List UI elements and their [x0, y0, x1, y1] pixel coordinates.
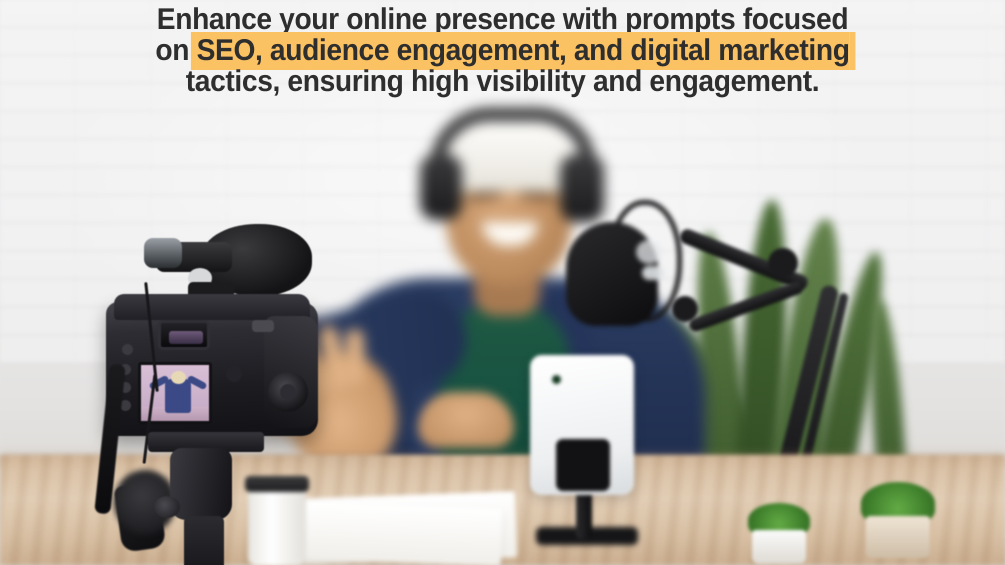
camera-viewfinder: [158, 320, 210, 350]
headline-line-1: Enhance your online presence with prompt…: [30, 4, 975, 35]
camera-button: [122, 344, 133, 355]
pot-body: [866, 516, 930, 558]
viewfinder-glass: [169, 331, 203, 344]
slide-canvas: Enhance your online presence with prompt…: [0, 0, 1005, 565]
lcd-preview-head: [171, 371, 186, 384]
boom-arm-joint: [768, 248, 798, 278]
tripod-column: [184, 516, 224, 565]
succulent-pot: [866, 486, 930, 558]
finger: [345, 329, 366, 386]
mic-highlight: [642, 266, 664, 280]
pot-body: [752, 530, 806, 564]
tablet-camera-icon: [552, 375, 561, 384]
mic-highlight: [636, 240, 662, 264]
camera-mode-dial: [252, 320, 274, 332]
mic-capsule: [144, 238, 182, 268]
camera-rig: [96, 224, 332, 565]
camera-button: [226, 366, 242, 382]
headphone-cup-left: [420, 154, 462, 220]
lcd-preview-subject: [165, 379, 191, 413]
succulent-pot: [752, 506, 806, 564]
headline-text: Enhance your online presence with prompt…: [30, 4, 975, 97]
studio-microphone: [556, 196, 688, 346]
tablet-on-stand: [530, 355, 634, 495]
headline-line-2-prefix: on: [155, 34, 196, 67]
boom-arm-joint: [672, 296, 698, 322]
headline-line-3: tactics, ensuring high visibility and en…: [30, 66, 975, 97]
tablet-stand-clip: [556, 439, 610, 491]
camera-dial-center: [280, 384, 296, 400]
shotgun-microphone: [144, 224, 304, 298]
tripod-lock-knob: [154, 496, 180, 518]
resting-hand: [418, 392, 514, 448]
headline-line-2: on SEO, audience engagement, and digital…: [30, 35, 975, 66]
